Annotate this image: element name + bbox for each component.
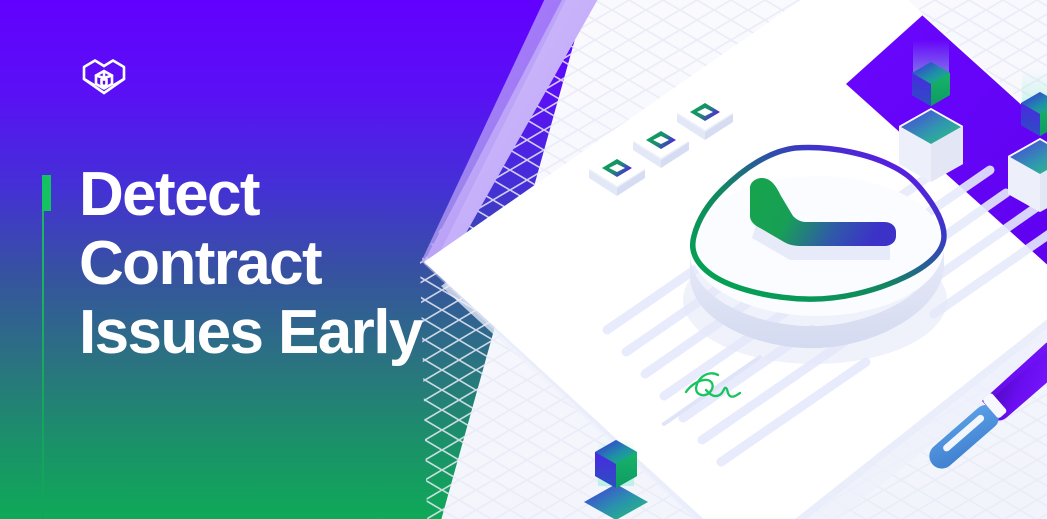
hero-banner: Detect Contract Issues Early bbox=[0, 0, 1047, 519]
heart-cube-logo-icon[interactable] bbox=[78, 52, 130, 100]
accent-bar bbox=[42, 175, 51, 211]
accent-rail bbox=[42, 175, 44, 519]
page-title: Detect Contract Issues Early bbox=[79, 160, 499, 367]
